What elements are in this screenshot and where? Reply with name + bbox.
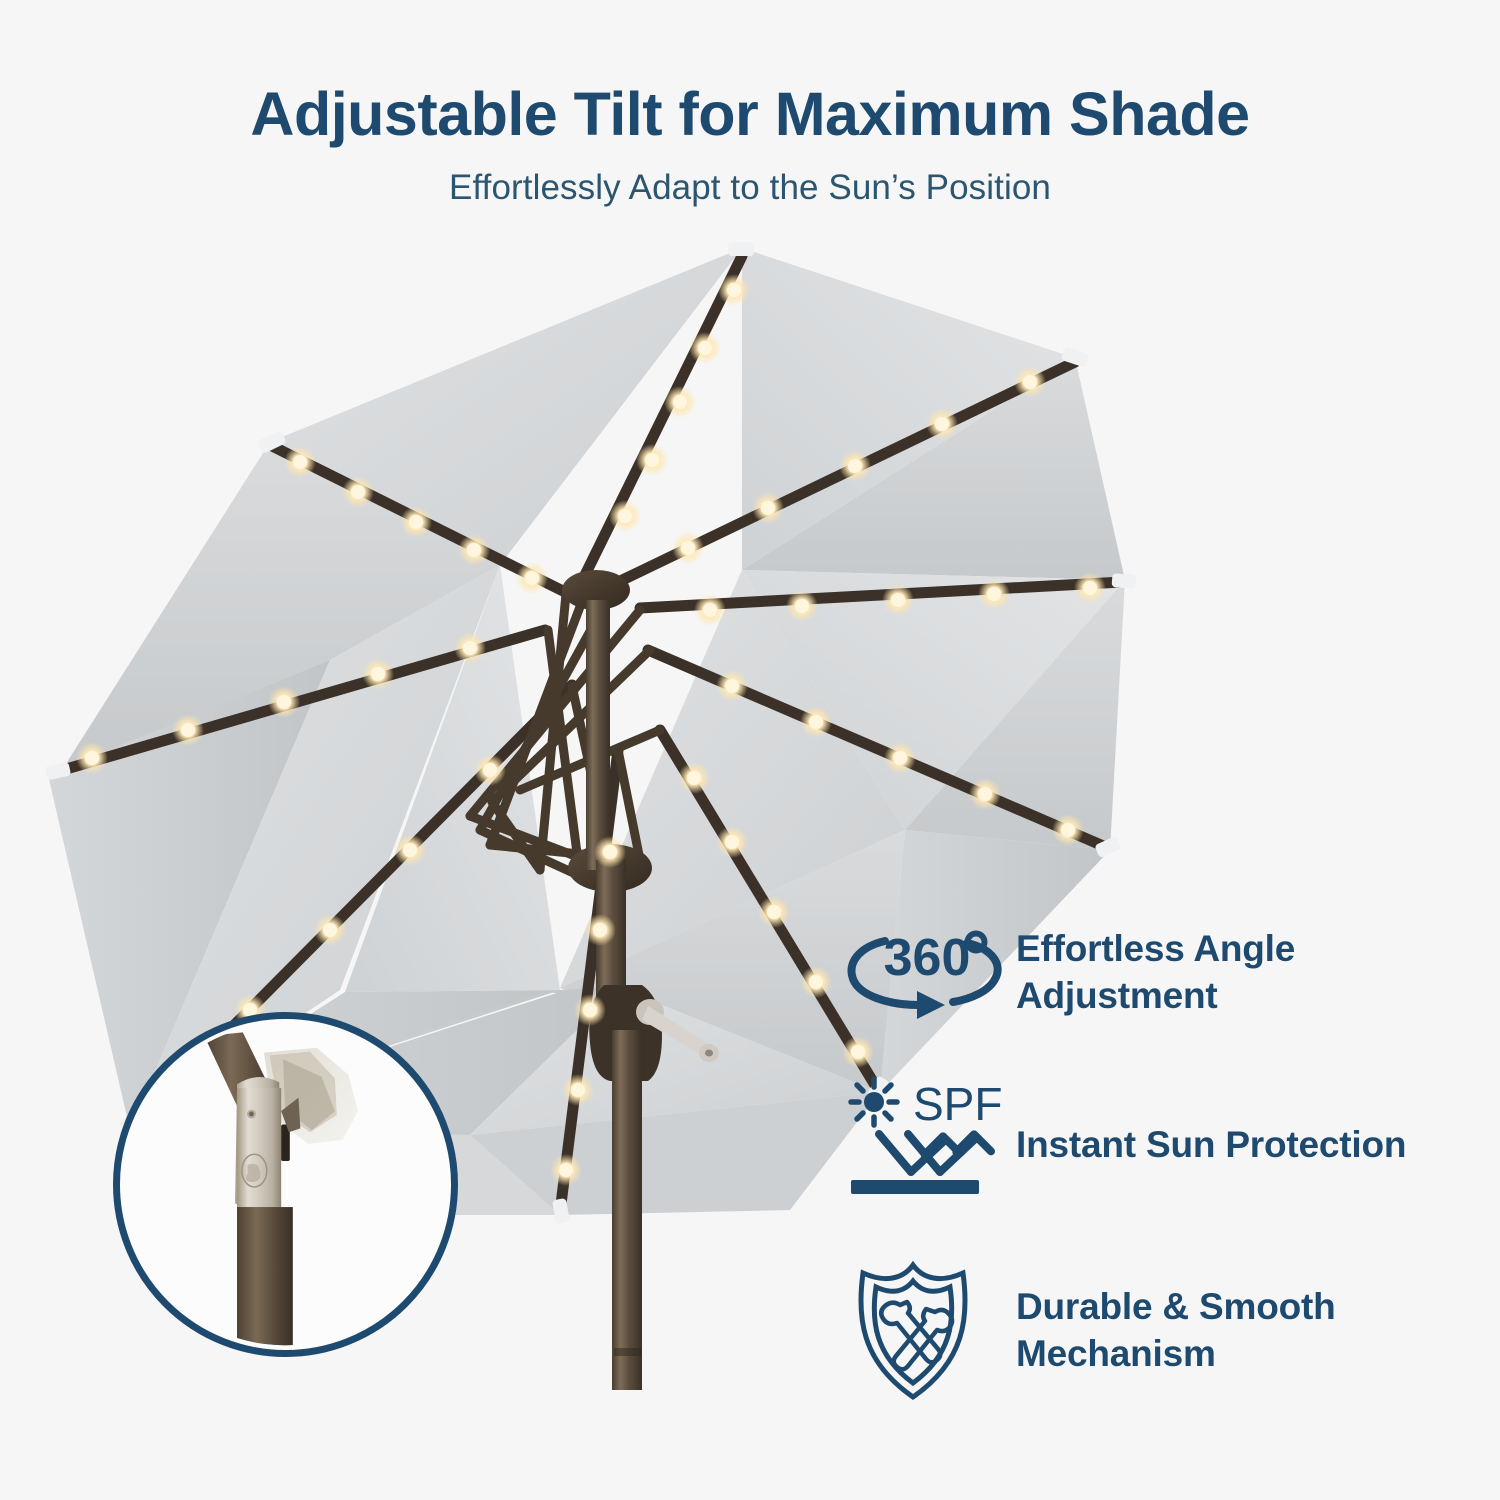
feature-item-angle-adjustment: 360 Effortless Angle Adjustment: [838, 893, 1500, 1053]
feature-item-durable-mechanism: Durable & Smooth Mechanism: [838, 1238, 1500, 1423]
360-rotation-icon: 360: [838, 917, 1016, 1029]
svg-text:360: 360: [884, 929, 971, 987]
feature-label-durable-mechanism: Durable & Smooth Mechanism: [1016, 1284, 1336, 1377]
feature-label-line-1: Effortless Angle: [1016, 926, 1295, 973]
header: Adjustable Tilt for Maximum Shade Effort…: [0, 0, 1500, 207]
page-subtitle: Effortlessly Adapt to the Sun’s Position: [0, 169, 1500, 208]
shield-wrench-icon: [838, 1257, 1016, 1405]
feature-label-line-2: Adjustment: [1016, 973, 1295, 1020]
feature-label-sun-protection: Instant Sun Protection: [1016, 1122, 1406, 1169]
feature-label-line-1: Instant Sun Protection: [1016, 1122, 1406, 1169]
page-title: Adjustable Tilt for Maximum Shade: [0, 82, 1500, 147]
spf-sun-protection-icon: SPF: [838, 1076, 1016, 1216]
tilt-mechanism-detail-inset: [113, 1012, 458, 1357]
feature-label-line-2: Mechanism: [1016, 1331, 1336, 1378]
feature-label-angle-adjustment: Effortless Angle Adjustment: [1016, 926, 1295, 1019]
svg-text:SPF: SPF: [913, 1078, 1002, 1130]
feature-item-sun-protection: SPF Instant Sun Protection: [838, 1053, 1500, 1238]
feature-list: 360 Effortless Angle Adjustment: [838, 893, 1500, 1423]
feature-label-line-1: Durable & Smooth: [1016, 1284, 1336, 1331]
